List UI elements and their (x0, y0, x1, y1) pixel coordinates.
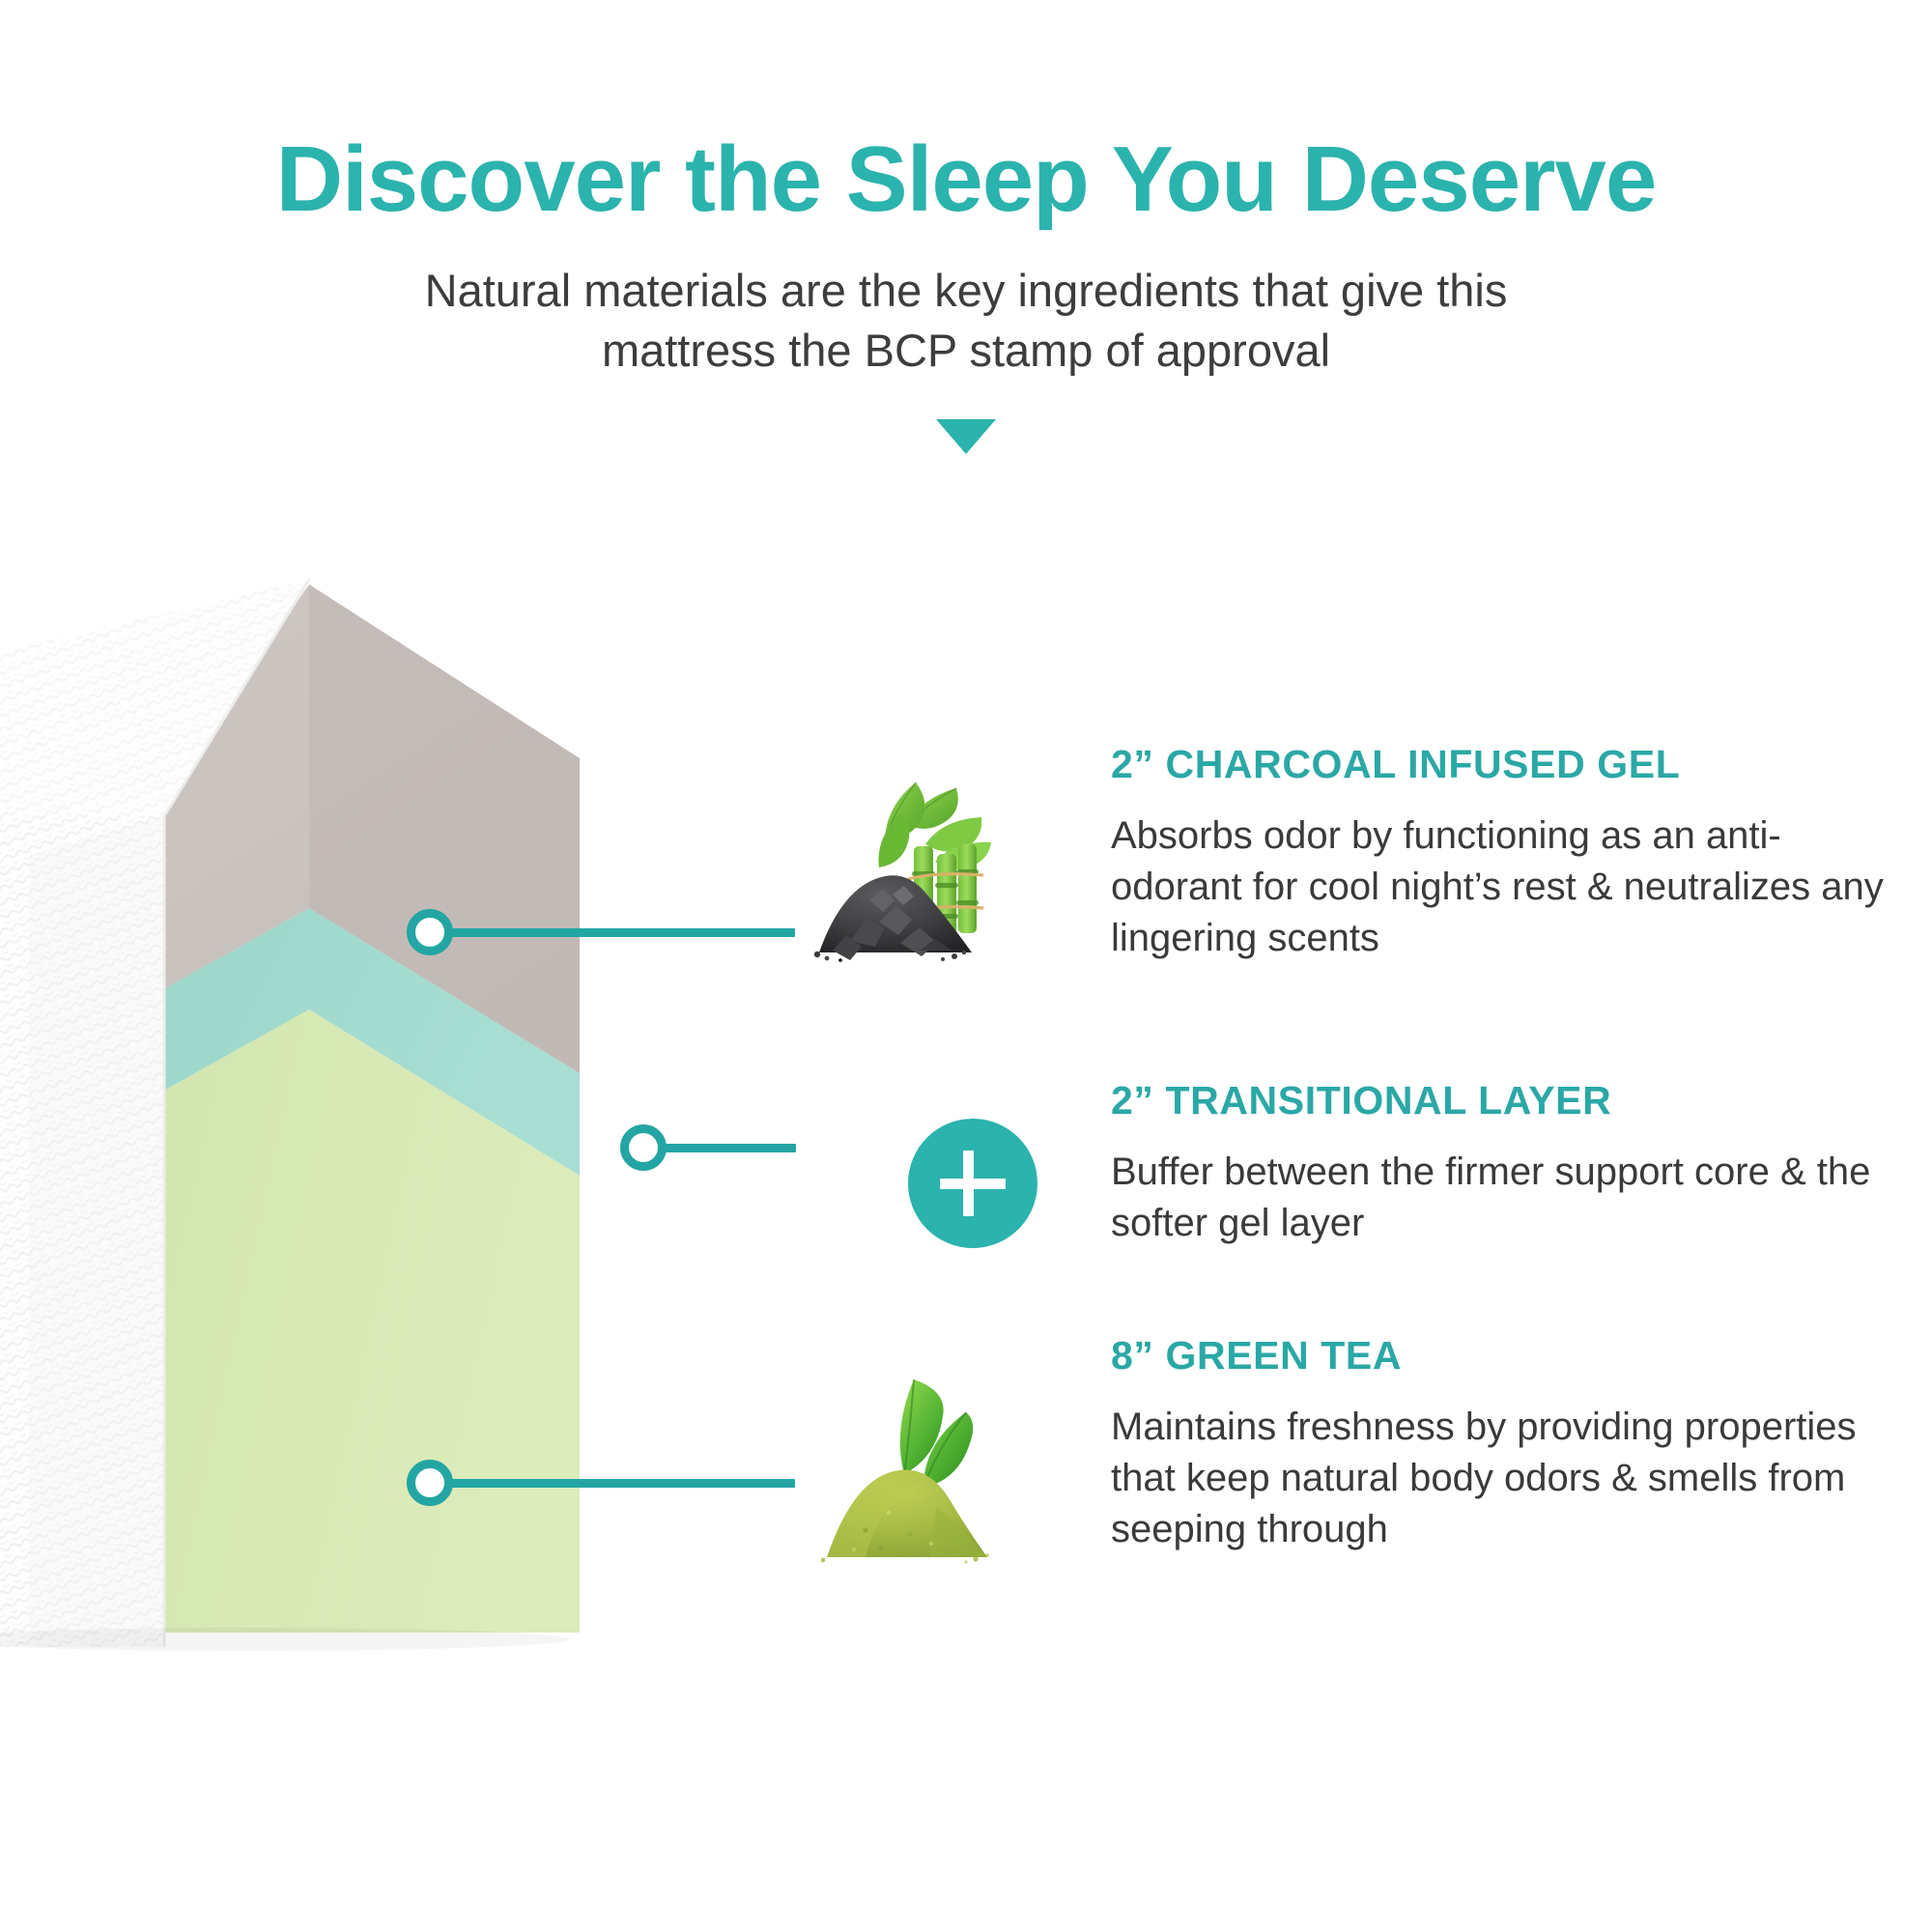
feature-heading-charcoal: 2” CHARCOAL INFUSED GEL (1111, 744, 1884, 785)
header: Discover the Sleep You Deserve Natural m… (0, 0, 1932, 454)
matcha-powder-pile (821, 1470, 989, 1564)
green-tea-powder-with-leaves-icon (821, 1370, 1043, 1573)
callout-dot-transitional (620, 1124, 667, 1171)
charcoal-pile-with-bamboo-icon (811, 771, 1034, 964)
callout-dot-greentea (407, 1460, 453, 1506)
feature-body-transitional: Buffer between the firmer support core &… (1111, 1147, 1884, 1249)
plus-vertical-bar (963, 1151, 974, 1216)
callout-line-greentea (447, 1479, 795, 1488)
page-subtitle: Natural materials are the key ingredient… (0, 261, 1932, 381)
subtitle-line-1: Natural materials are the key ingredient… (0, 261, 1932, 321)
feature-body-greentea: Maintains freshness by providing propert… (1111, 1402, 1884, 1556)
chevron-down-triangle-icon (936, 419, 996, 454)
feature-heading-greentea: 8” GREEN TEA (1111, 1335, 1884, 1377)
feature-body-charcoal: Absorbs odor by functioning as an anti-o… (1111, 810, 1884, 965)
mattress-cutaway-illustration (0, 526, 676, 1666)
page-title: Discover the Sleep You Deserve (0, 133, 1932, 226)
subtitle-line-2: mattress the BCP stamp of approval (0, 321, 1932, 381)
callout-dot-charcoal (407, 909, 453, 955)
callout-line-transitional (661, 1144, 796, 1152)
plus-badge-icon (908, 1119, 1037, 1248)
callout-line-charcoal (447, 928, 795, 937)
feature-heading-transitional: 2” TRANSITIONAL LAYER (1111, 1080, 1884, 1122)
